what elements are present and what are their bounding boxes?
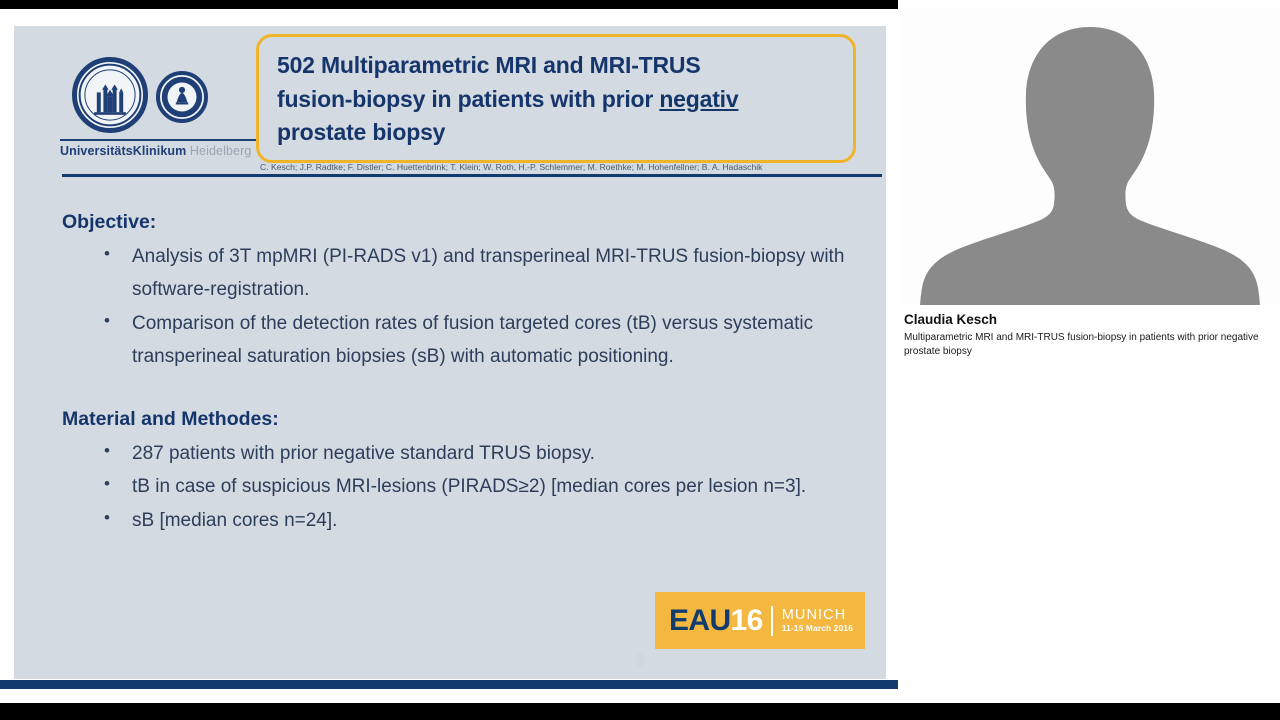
letterbox-bottom — [0, 703, 1280, 720]
institution-name: UniversitätsKlinikum Heidelberg — [60, 144, 251, 158]
presentation-slide[interactable]: UniversitätsKlinikum Heidelberg 502 Mult… — [14, 26, 886, 679]
faculty-seal-icon — [156, 71, 208, 123]
title-line-2-underlined: negativ — [659, 86, 738, 112]
title-line-2: fusion-biopsy in patients with prior neg… — [277, 83, 835, 117]
slide-title-box: 502 Multiparametric MRI and MRI-TRUS fus… — [256, 34, 856, 163]
list-item: tB in case of suspicious MRI-lesions (PI… — [100, 470, 862, 503]
slide-stage: UniversitätsKlinikum Heidelberg 502 Mult… — [0, 9, 898, 703]
congress-acronym: EAU16 — [669, 606, 763, 636]
congress-location-block: MUNICH 11-15 March 2016 — [782, 608, 853, 633]
presentation-viewer: UniversitätsKlinikum Heidelberg 502 Mult… — [0, 0, 1280, 720]
list-item: 287 patients with prior negative standar… — [100, 437, 862, 470]
section-spacer — [62, 382, 862, 408]
university-logo: UniversitätsKlinikum Heidelberg — [60, 55, 260, 160]
bullet-list: 287 patients with prior negative standar… — [100, 437, 862, 537]
slide-body: Objective: Analysis of 3T mpMRI (PI-RADS… — [62, 211, 862, 545]
congress-logo-divider — [771, 606, 773, 636]
speaker-panel: Claudia Kesch Multiparametric MRI and MR… — [898, 0, 1280, 703]
avatar — [900, 9, 1280, 305]
letterbox-top — [0, 0, 898, 9]
slide-watermark: ▒ — [636, 654, 644, 666]
congress-dates: 11-15 March 2016 — [782, 624, 853, 633]
congress-year: 16 — [731, 604, 763, 637]
slide-header: UniversitätsKlinikum Heidelberg 502 Mult… — [14, 26, 886, 176]
slide-bottom-accent-bar — [0, 680, 898, 689]
congress-city: MUNICH — [782, 608, 853, 624]
institution-name-light: Heidelberg — [190, 144, 251, 158]
speaker-details: Claudia Kesch Multiparametric MRI and MR… — [904, 312, 1264, 359]
page-title: 502 Multiparametric MRI and MRI-TRUS fus… — [277, 49, 835, 150]
section-objective: Objective: Analysis of 3T mpMRI (PI-RADS… — [62, 211, 862, 374]
list-item: sB [median cores n=24]. — [100, 504, 862, 537]
congress-logo: EAU16 MUNICH 11-15 March 2016 — [655, 592, 865, 649]
list-item: Comparison of the detection rates of fus… — [100, 307, 862, 374]
speaker-talk-title: Multiparametric MRI and MRI-TRUS fusion-… — [904, 331, 1264, 359]
section-heading: Material and Methodes: — [62, 408, 862, 431]
section-heading: Objective: — [62, 211, 862, 234]
logo-rule — [60, 139, 265, 141]
header-divider — [62, 174, 882, 177]
speaker-name: Claudia Kesch — [904, 312, 1264, 327]
bullet-list: Analysis of 3T mpMRI (PI-RADS v1) and tr… — [100, 240, 862, 374]
title-line-2-text: fusion-biopsy in patients with prior — [277, 86, 659, 112]
university-seal-icon — [72, 57, 148, 133]
section-material-and-methods: Material and Methodes: 287 patients with… — [62, 408, 862, 537]
institution-name-bold: UniversitätsKlinikum — [60, 144, 186, 158]
title-line-3: prostate biopsy — [277, 116, 835, 150]
list-item: Analysis of 3T mpMRI (PI-RADS v1) and tr… — [100, 240, 862, 307]
author-list: C. Kesch; J.P. Radtke; F. Distler; C. Hu… — [260, 162, 874, 172]
congress-acronym-text: EAU — [669, 604, 731, 637]
title-line-1: 502 Multiparametric MRI and MRI-TRUS — [277, 49, 835, 83]
